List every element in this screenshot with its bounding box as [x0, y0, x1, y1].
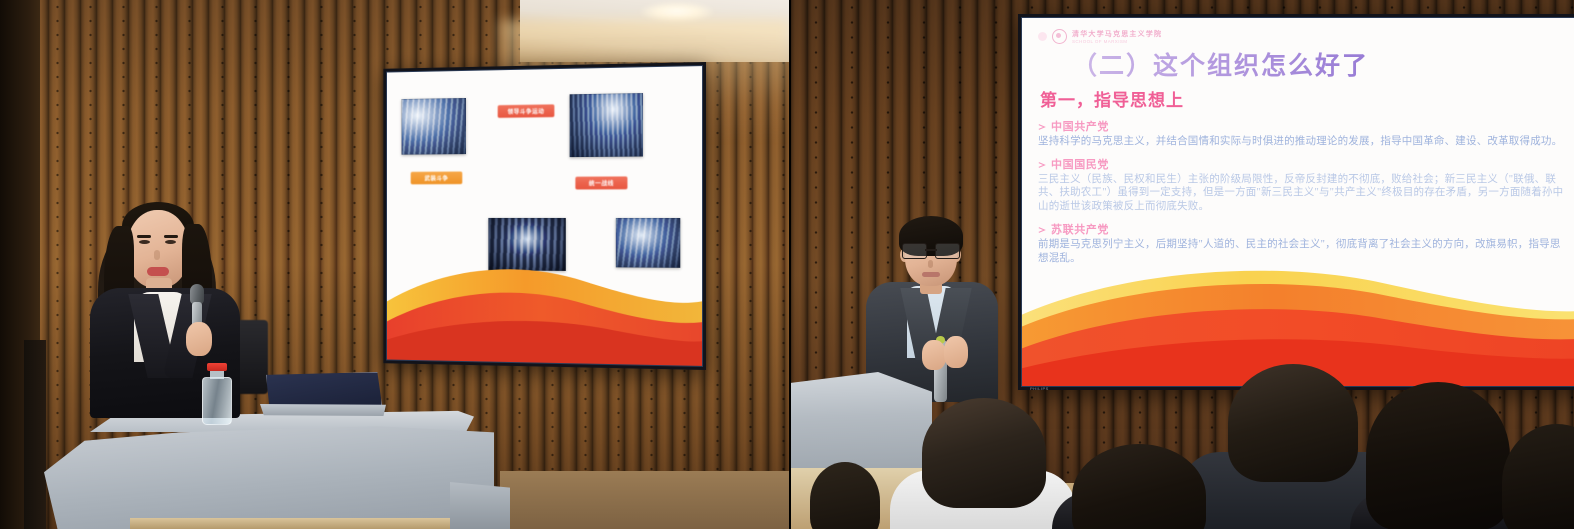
laptop-base [260, 404, 386, 416]
block-body-2: 三民主义（民族、民权和民生）主张的阶级局限性，反帝反封建的不彻底，败给社会；新三… [1038, 173, 1570, 215]
face [127, 210, 189, 288]
bottle-cap [207, 363, 226, 371]
slide-wave-left [387, 250, 702, 365]
slide-tag-3: 统一战线 [575, 176, 627, 189]
projection-screen-right: 清华大学马克思主义学院 SCHOOL OF MARXISM （二）这个组织怎么好… [1018, 14, 1574, 390]
block-heading-3: 苏联共产党 [1038, 221, 1570, 237]
slide-left: 武装斗争 领导斗争运动 统一战线 [387, 66, 702, 366]
floor-left [500, 471, 790, 529]
hand-right [944, 336, 968, 368]
slide-tag-2: 领导斗争运动 [498, 104, 555, 118]
laptop [258, 372, 388, 420]
bullet-arrow-icon [1038, 122, 1046, 130]
laptop-screen [266, 372, 382, 408]
slide-photo-2 [570, 93, 643, 157]
bullet-arrow-icon [1038, 225, 1046, 233]
bullet-arrow-icon [1038, 160, 1046, 168]
logo-decoration-icon [1038, 32, 1047, 41]
bottle-body [202, 377, 232, 425]
slide-block-2: 中国国民党 三民主义（民族、民权和民生）主张的阶级局限性，反帝反封建的不彻底，败… [1038, 156, 1570, 215]
audience-head-3 [1228, 364, 1358, 482]
left-photo: 武装斗争 领导斗争运动 统一战线 [0, 0, 790, 529]
slide-photo-1 [402, 98, 466, 155]
slide-body: 清华大学马克思主义学院 SCHOOL OF MARXISM （二）这个组织怎么好… [1022, 18, 1574, 266]
panel-seam [789, 0, 791, 529]
lectern-base-trim [130, 518, 450, 529]
hand [186, 322, 212, 356]
screenshot-root: 武装斗争 领导斗争运动 统一战线 [0, 0, 1574, 529]
block-heading-2: 中国国民党 [1038, 156, 1570, 172]
lectern-front [44, 424, 494, 529]
microphone-head [190, 284, 204, 304]
slide-title: （二）这个组织怎么好了 [1072, 52, 1570, 81]
glasses-bridge [925, 249, 937, 251]
lectern-side [450, 482, 510, 529]
lens-right [935, 243, 960, 259]
logo-seal-icon [1052, 29, 1067, 44]
audience-head-1 [922, 398, 1046, 508]
slide-subtitle: 第一，指导思想上 [1040, 86, 1570, 111]
right-photo: 清华大学马克思主义学院 SCHOOL OF MARXISM （二）这个组织怎么好… [790, 0, 1574, 529]
block-heading-3-text: 苏联共产党 [1051, 221, 1109, 237]
ceiling-light [640, 2, 714, 22]
logo-subtext: SCHOOL OF MARXISM [1072, 39, 1162, 44]
slide-tag-1: 武装斗争 [411, 172, 463, 185]
block-heading-1-text: 中国共产党 [1051, 118, 1109, 134]
projection-screen-left: 武装斗争 领导斗争运动 统一战线 [383, 62, 706, 370]
hand-left [922, 340, 946, 370]
slide-block-1: 中国共产党 坚持科学的马克思主义，并结合国情和实际与时俱进的推动理论的发展，指导… [1038, 118, 1570, 149]
eyeglasses [902, 243, 960, 258]
block-heading-1: 中国共产党 [1038, 118, 1570, 134]
audience-head-4 [1366, 382, 1510, 529]
screen-brand-label: PHILIPS [1030, 386, 1049, 391]
block-body-1: 坚持科学的马克思主义，并结合国情和实际与时俱进的推动理论的发展，指导中国革命、建… [1038, 135, 1570, 149]
block-heading-2-text: 中国国民党 [1051, 156, 1109, 172]
logo-text: 清华大学马克思主义学院 [1072, 29, 1162, 39]
slide-right: 清华大学马克思主义学院 SCHOOL OF MARXISM （二）这个组织怎么好… [1022, 18, 1574, 386]
block-body-3: 前期是马克思列宁主义，后期坚持"人道的、民主的社会主义"，彻底背离了社会主义的方… [1038, 238, 1570, 266]
university-logo: 清华大学马克思主义学院 SCHOOL OF MARXISM [1038, 28, 1570, 44]
lens-left [902, 243, 927, 259]
water-bottle [202, 363, 232, 425]
slide-block-3: 苏联共产党 前期是马克思列宁主义，后期坚持"人道的、民主的社会主义"，彻底背离了… [1038, 221, 1570, 266]
